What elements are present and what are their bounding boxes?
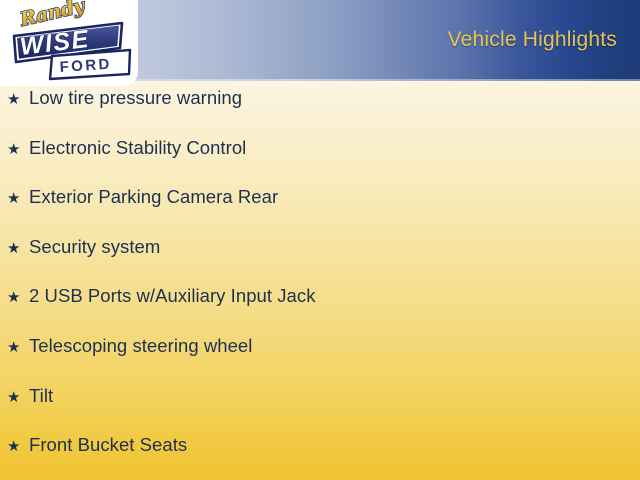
vehicle-highlights-list: ★ Low tire pressure warning ★ Electronic…: [0, 79, 640, 480]
list-item-label: Security system: [29, 238, 640, 257]
page-title: Vehicle Highlights: [448, 28, 617, 52]
star-icon: ★: [7, 340, 29, 355]
list-item-label: Telescoping steering wheel: [29, 337, 640, 356]
list-item: ★ Exterior Parking Camera Rear: [0, 188, 640, 238]
list-item: ★ Low tire pressure warning: [0, 89, 640, 139]
logo-ford-text: FORD: [59, 56, 112, 76]
list-item-label: Low tire pressure warning: [29, 89, 640, 108]
vehicle-highlights-slide: Vehicle Highlights: [0, 0, 640, 480]
logo-artwork: WISE FORD Randy: [0, 0, 136, 88]
list-item-label: Front Bucket Seats: [29, 436, 640, 455]
list-item-label: Electronic Stability Control: [29, 139, 640, 158]
list-item: ★ Tilt: [0, 387, 640, 437]
star-icon: ★: [7, 191, 29, 206]
list-item-label: 2 USB Ports w/Auxiliary Input Jack: [29, 287, 640, 306]
list-item-label: Exterior Parking Camera Rear: [29, 188, 640, 207]
list-item: ★ Telescoping steering wheel: [0, 337, 640, 387]
list-item: ★ Front Bucket Seats: [0, 436, 640, 480]
star-icon: ★: [7, 241, 29, 256]
star-icon: ★: [7, 92, 29, 107]
star-icon: ★: [7, 390, 29, 405]
star-icon: ★: [7, 439, 29, 454]
star-icon: ★: [7, 142, 29, 157]
list-item: ★ Electronic Stability Control: [0, 139, 640, 189]
star-icon: ★: [7, 290, 29, 305]
list-item: ★ Security system: [0, 238, 640, 288]
dealer-logo[interactable]: WISE FORD Randy: [0, 0, 136, 88]
list-item: ★ 2 USB Ports w/Auxiliary Input Jack: [0, 287, 640, 337]
list-item-label: Tilt: [29, 387, 640, 406]
